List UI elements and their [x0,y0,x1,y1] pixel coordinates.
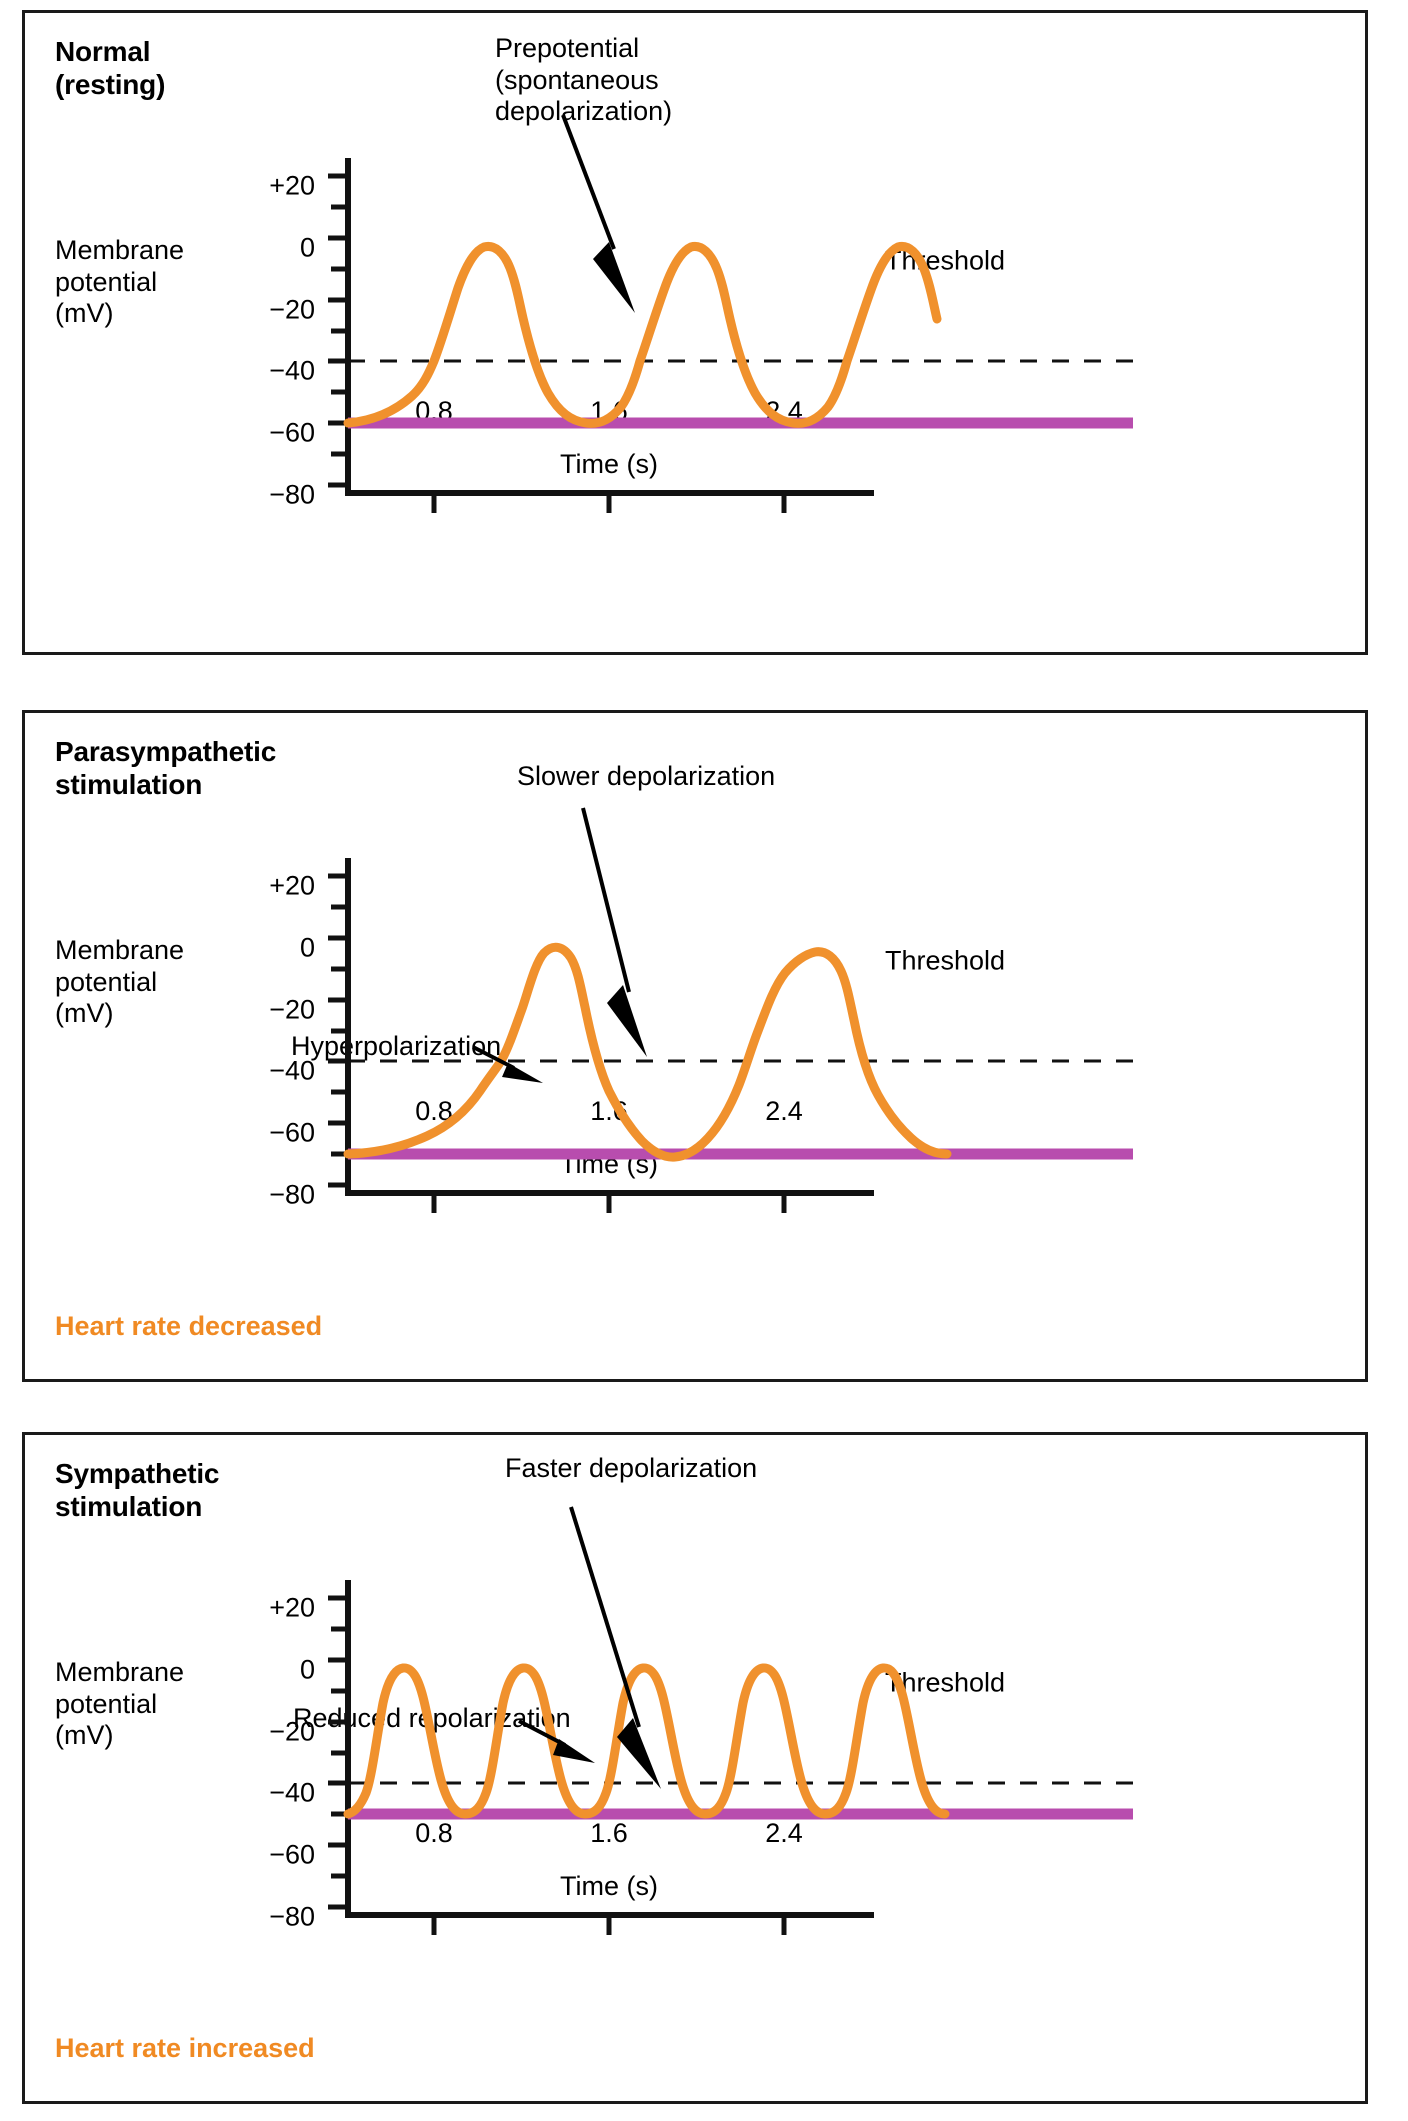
plot-area [25,1435,1371,2107]
membrane-potential-trace [348,947,947,1157]
plot-area [25,713,1371,1385]
plot-svg [25,1435,1371,2107]
callout-arrowhead-faster [617,1718,661,1789]
plot-svg [25,713,1371,1385]
callout-leader-line-reduced [519,1721,565,1745]
callout-arrowhead-hyper [502,1063,543,1083]
membrane-potential-trace [348,246,937,423]
panel-normal-resting: Normal (resting) Membrane potential (mV)… [22,10,1368,655]
callout-arrowhead [593,242,635,313]
plot-svg [25,13,1371,658]
callout-leader-line [563,115,614,249]
panel-parasympathetic-stimulation: Parasympathetic stimulation Membrane pot… [22,710,1368,1382]
figure-root: Normal (resting) Membrane potential (mV)… [0,0,1408,2121]
callout-leader-line-slower [583,808,629,992]
callout-leader-line-faster [571,1507,639,1727]
plot-area [25,13,1371,658]
panel-sympathetic-stimulation: Sympathetic stimulation Membrane potenti… [22,1432,1368,2104]
membrane-potential-trace [348,1668,945,1814]
callout-arrowhead-slower [607,985,647,1057]
